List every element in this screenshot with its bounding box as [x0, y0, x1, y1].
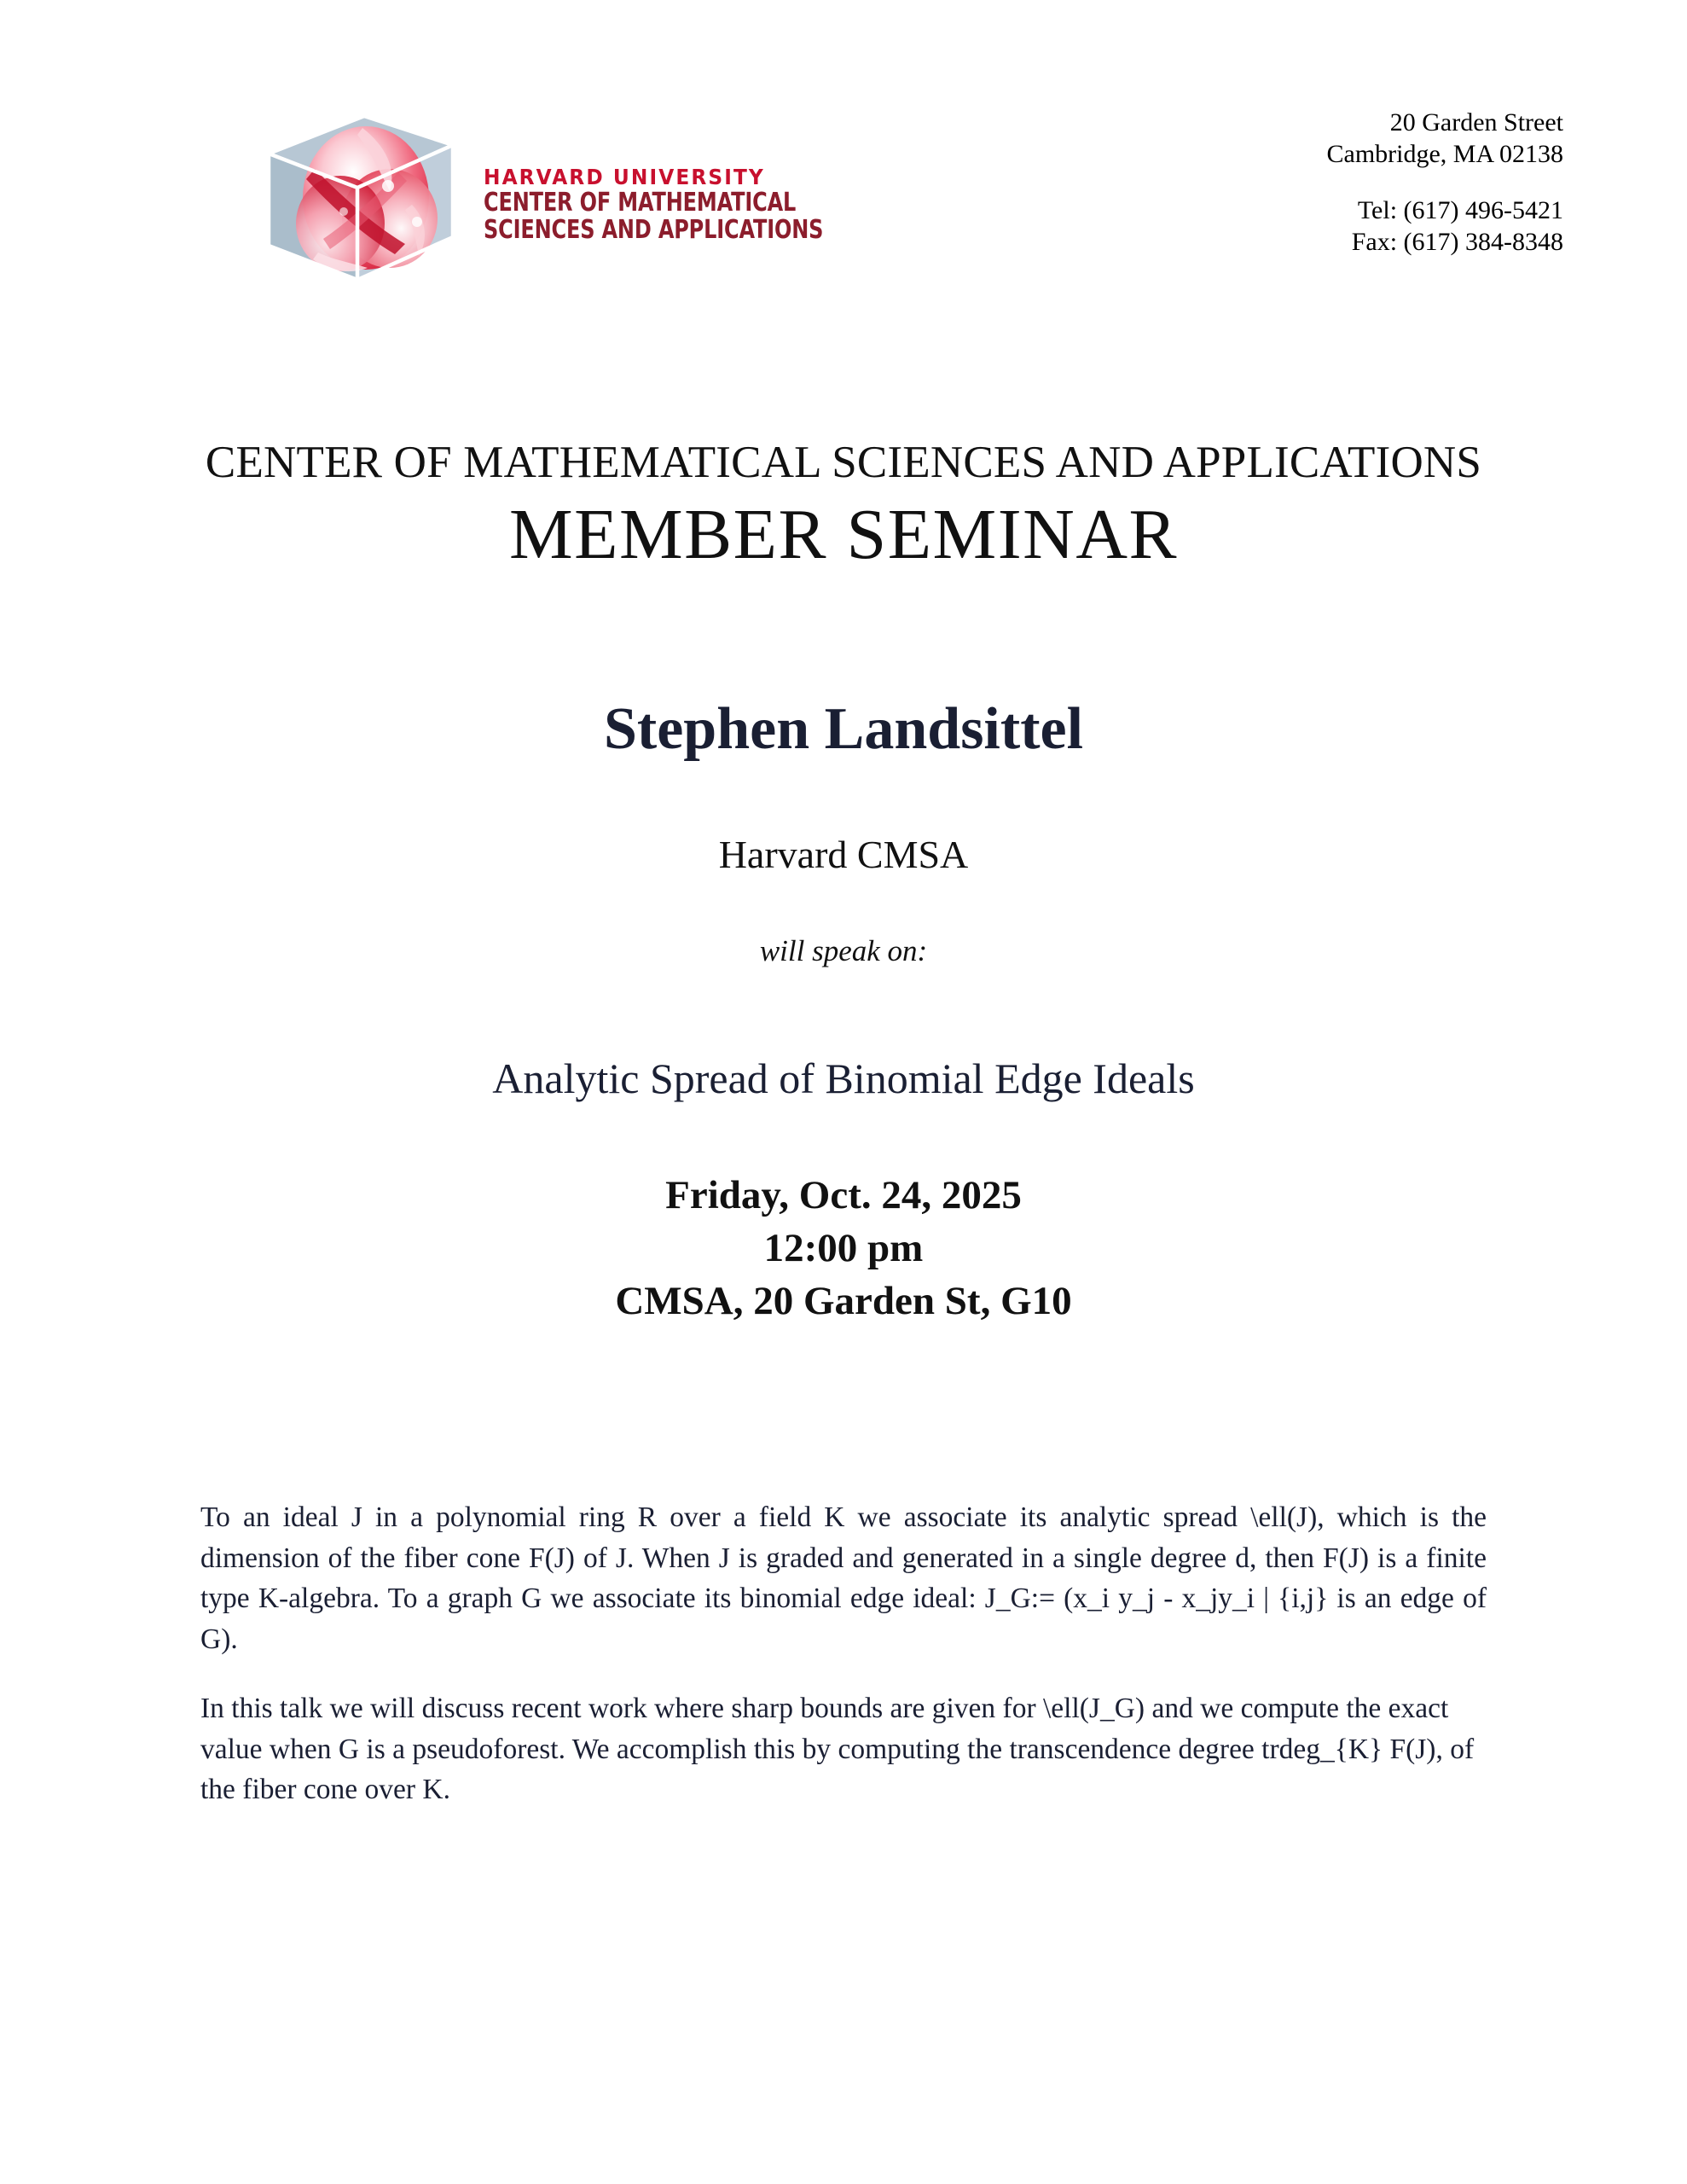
contact-address-block: 20 Garden Street Cambridge, MA 02138 Tel… — [1327, 107, 1564, 258]
abstract-paragraph-1: To an ideal J in a polynomial ring R ove… — [200, 1497, 1487, 1659]
organization-title: CENTER OF MATHEMATICAL SCIENCES AND APPL… — [0, 437, 1687, 488]
address-spacer — [1327, 170, 1564, 195]
logo-text-sciences-and-applications: SCIENCES AND APPLICATIONS — [484, 217, 823, 244]
will-speak-on-label: will speak on: — [0, 934, 1687, 968]
logo-wordmark: HARVARD UNIVERSITY CENTER OF MATHEMATICA… — [484, 149, 908, 245]
speaker-affiliation: Harvard CMSA — [0, 832, 1687, 877]
abstract-body: To an ideal J in a polynomial ring R ove… — [200, 1497, 1487, 1810]
logo-text-harvard-university: HARVARD UNIVERSITY — [484, 166, 887, 189]
page-title: MEMBER SEMINAR — [0, 493, 1687, 576]
address-city-state-zip: Cambridge, MA 02138 — [1327, 139, 1564, 171]
event-details: Friday, Oct. 24, 2025 12:00 pm CMSA, 20 … — [0, 1169, 1687, 1327]
address-telephone: Tel: (617) 496-5421 — [1327, 195, 1564, 227]
event-date: Friday, Oct. 24, 2025 — [0, 1169, 1687, 1222]
address-fax: Fax: (617) 384-8348 — [1327, 227, 1564, 258]
speaker-name: Stephen Landsittel — [0, 695, 1687, 764]
address-street: 20 Garden Street — [1327, 107, 1564, 139]
talk-title: Analytic Spread of Binomial Edge Ideals — [0, 1054, 1687, 1103]
cmsa-kummer-surface-cube-logo — [262, 109, 460, 284]
abstract-paragraph-2: In this talk we will discuss recent work… — [200, 1688, 1487, 1810]
page-header: HARVARD UNIVERSITY CENTER OF MATHEMATICA… — [0, 0, 1687, 324]
event-time: 12:00 pm — [0, 1222, 1687, 1275]
event-location: CMSA, 20 Garden St, G10 — [0, 1275, 1687, 1327]
logo-text-center-of-mathematical: CENTER OF MATHEMATICAL — [484, 189, 823, 217]
cmsa-logo: HARVARD UNIVERSITY CENTER OF MATHEMATICA… — [262, 109, 908, 284]
